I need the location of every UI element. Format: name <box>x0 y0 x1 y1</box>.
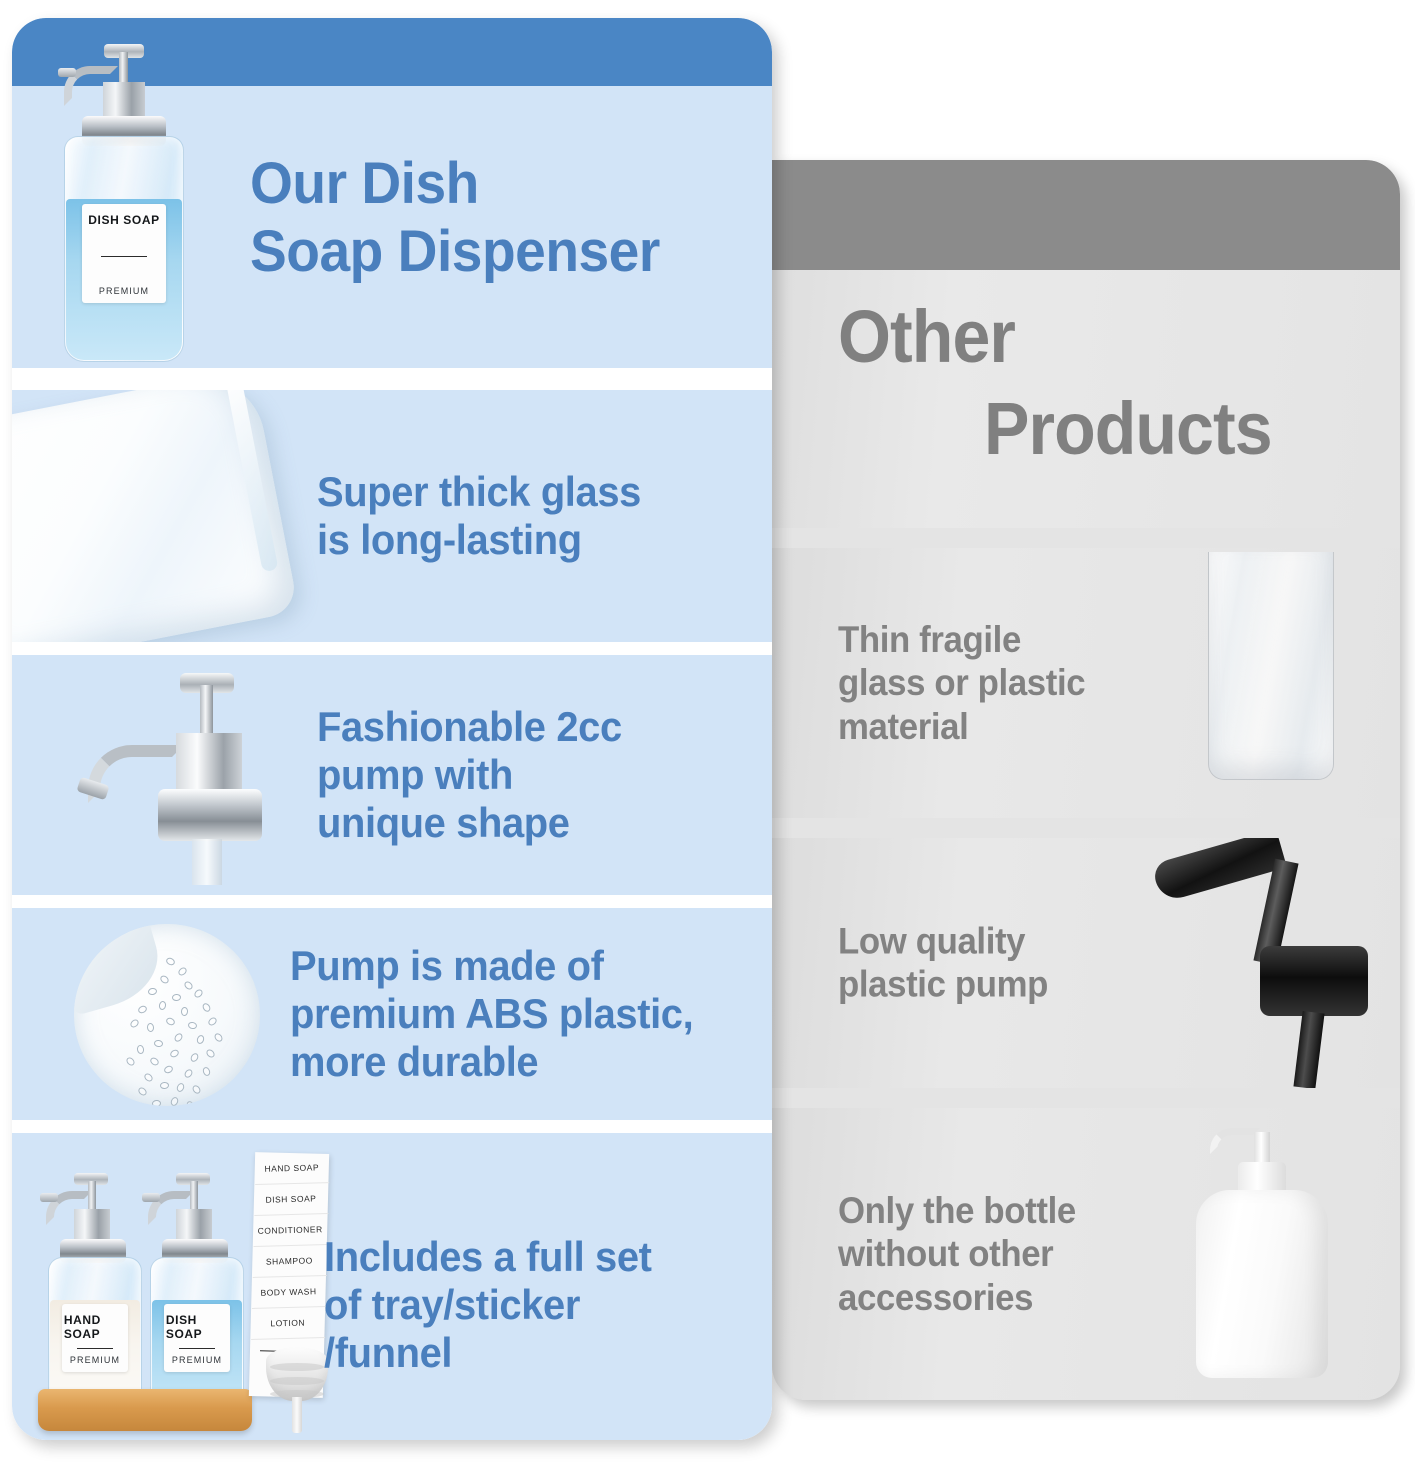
bottle-label-main: DISH SOAP <box>88 213 159 227</box>
sticker-label: LOTION <box>250 1307 325 1340</box>
drawback-row: Low quality plastic pump <box>772 838 1400 1088</box>
other-products-title-line1: Other <box>838 300 1015 374</box>
our-product-panel: DISH SOAP PREMIUM Our Dish Soap Dispense… <box>12 18 772 1440</box>
sticker-label: DISH SOAP <box>254 1183 329 1216</box>
feature-text: Includes a full set of tray/sticker /fun… <box>324 1233 652 1377</box>
drawback-text: Only the bottle without other accessorie… <box>838 1189 1076 1319</box>
feature-text: Super thick glass is long-lasting <box>317 468 641 564</box>
page-title: Our Dish Soap Dispenser <box>250 150 660 286</box>
drawback-text: Thin fragile glass or plastic material <box>838 618 1085 748</box>
dish-soap-dispenser-icon: DISH SOAP PREMIUM <box>56 40 236 362</box>
full-set-icon: HAND SOAP PREMIUM DISH <box>38 1151 338 1439</box>
bottle-label-main: DISH SOAP <box>166 1313 228 1341</box>
sticker-label: HAND SOAP <box>254 1152 329 1185</box>
feature-row: Fashionable 2cc pump with unique shape <box>12 655 772 895</box>
our-product-hero: DISH SOAP PREMIUM Our Dish Soap Dispense… <box>12 18 772 368</box>
white-plain-bottle-icon <box>1196 1126 1328 1378</box>
feature-text: Fashionable 2cc pump with unique shape <box>317 703 622 847</box>
thin-glass-bottle-icon <box>1208 552 1334 780</box>
drawback-text: Low quality plastic pump <box>838 920 1048 1007</box>
bottle-label-sub: PREMIUM <box>99 286 149 296</box>
feature-row: HAND SOAP PREMIUM DISH <box>12 1133 772 1440</box>
bottle-label: DISH SOAP PREMIUM <box>164 1304 230 1372</box>
sticker-label: BODY WASH <box>251 1276 326 1309</box>
comparison-infographic: Other Products Thin fragile glass or pla… <box>0 0 1415 1468</box>
bamboo-tray-icon <box>38 1389 252 1431</box>
chrome-pump-icon <box>72 671 292 881</box>
sticker-label: CONDITIONER <box>253 1214 328 1247</box>
feature-row: Pump is made of premium ABS plastic, mor… <box>12 908 772 1120</box>
bottle-label: HAND SOAP PREMIUM <box>62 1304 128 1372</box>
feature-row: Super thick glass is long-lasting <box>12 390 772 642</box>
dish-soap-bottle-icon: DISH SOAP PREMIUM <box>146 1173 250 1413</box>
bottle-label-sub: PREMIUM <box>172 1355 222 1365</box>
thick-glass-icon <box>12 390 299 642</box>
funnel-icon <box>266 1347 328 1433</box>
drawback-row: Thin fragile glass or plastic material <box>772 548 1400 818</box>
bottle-label-sub: PREMIUM <box>70 1355 120 1365</box>
drawback-row: Only the bottle without other accessorie… <box>772 1108 1400 1400</box>
black-plastic-pump-icon <box>1148 838 1378 1086</box>
sticker-label: SHAMPOO <box>252 1245 327 1278</box>
bottle-label-main: HAND SOAP <box>64 1313 126 1341</box>
bottle-label: DISH SOAP PREMIUM <box>82 204 167 303</box>
other-products-panel: Other Products Thin fragile glass or pla… <box>772 160 1400 1400</box>
hand-soap-bottle-icon: HAND SOAP PREMIUM <box>44 1173 148 1413</box>
other-products-header-bar <box>772 160 1400 270</box>
feature-text: Pump is made of premium ABS plastic, mor… <box>290 942 693 1086</box>
abs-pellets-icon <box>74 924 260 1106</box>
other-products-title-block: Other Products <box>772 270 1400 528</box>
other-products-title-line2: Products <box>984 392 1272 466</box>
